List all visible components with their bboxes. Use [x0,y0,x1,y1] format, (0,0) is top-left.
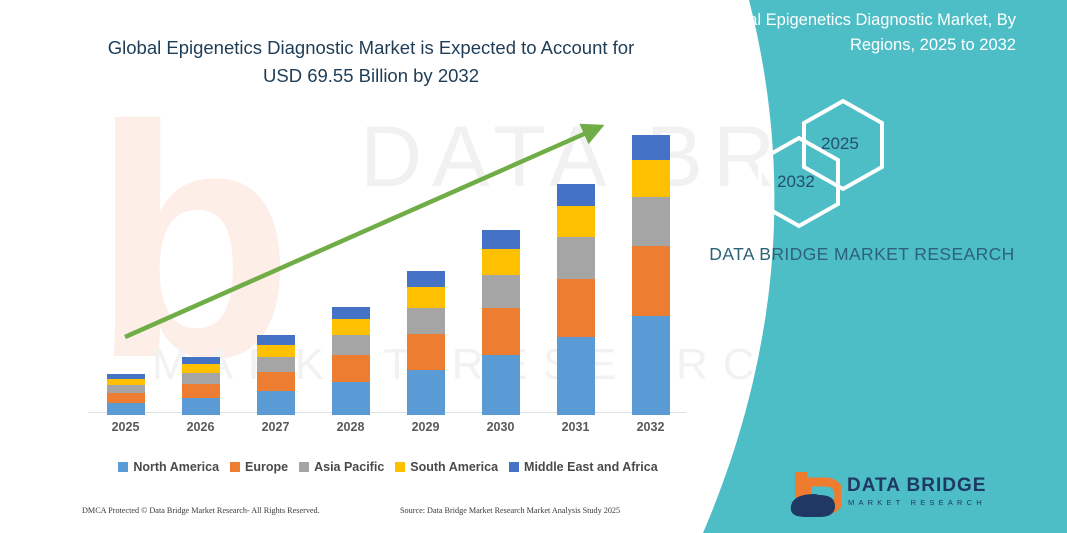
x-axis-label-2030: 2030 [471,420,531,434]
right-panel: Global Epigenetics Diagnostic Market, By… [667,0,1067,533]
logo-sub-text: MARKET RESEARCH [848,498,986,507]
x-axis-label-2031: 2031 [546,420,606,434]
company-name: DATA BRIDGE MARKET RESEARCH [707,240,1017,268]
bar-segment [332,307,370,319]
bar-2027 [257,335,295,415]
bar-segment [482,230,520,249]
legend-item[interactable]: North America [118,460,219,474]
x-axis-label-2025: 2025 [96,420,156,434]
bar-segment [182,364,220,373]
bar-segment [332,319,370,335]
legend-swatch-icon [395,462,405,472]
bar-segment [257,391,295,415]
bar-segment [257,357,295,372]
bar-segment [107,379,145,386]
bar-2028 [332,307,370,415]
bar-2026 [182,357,220,415]
bar-segment [482,275,520,308]
page-title-line-1: Global Epigenetics Diagnostic Market is … [108,37,635,58]
bar-segment [632,316,670,415]
bar-segment [407,334,445,370]
bar-2030 [482,230,520,415]
logo-main-text: DATA BRIDGE [847,475,986,497]
bar-segment [482,308,520,355]
legend-label: Asia Pacific [314,460,384,474]
page-title: Global Epigenetics Diagnostic Market is … [60,34,682,90]
bar-segment [332,355,370,382]
x-axis-label-2028: 2028 [321,420,381,434]
bar-segment [107,385,145,393]
bar-segment [257,372,295,392]
bar-segment [632,160,670,196]
bar-segment [107,403,145,415]
legend-swatch-icon [118,462,128,472]
bar-segment [257,345,295,357]
growth-arrow-icon [88,110,688,415]
bar-segment [557,337,595,415]
bar-segment [182,384,220,398]
legend-label: North America [133,460,219,474]
bar-segment [182,373,220,384]
company-name-text: DATA BRIDGE MARKET RESEARCH [709,244,1014,264]
legend-swatch-icon [230,462,240,472]
bar-segment [632,246,670,316]
bar-2029 [407,271,445,415]
bar-segment [107,393,145,403]
legend-label: Middle East and Africa [524,460,658,474]
legend-label: Europe [245,460,288,474]
bar-segment [407,308,445,334]
infographic-root: b DATA BRIDGE MARKET RESEARCH Global Epi… [0,0,1067,533]
bar-2025 [107,374,145,416]
x-axis-label-2027: 2027 [246,420,306,434]
bar-segment [632,197,670,246]
legend-swatch-icon [299,462,309,472]
bar-segment [557,237,595,278]
bar-2031 [557,184,595,415]
legend-item[interactable]: South America [395,460,498,474]
bar-segment [407,287,445,308]
bar-segment [407,370,445,415]
hexagon-label-end-year: 2032 [777,172,815,192]
footer-source: Source: Data Bridge Market Research Mark… [400,506,620,515]
bar-segment [557,279,595,337]
page-title-line-2: USD 69.55 Billion by 2032 [263,65,479,86]
chart-x-labels: 20252026202720282029203020312032 [88,420,688,446]
bar-segment [557,206,595,238]
bar-segment [632,135,670,160]
bar-segment [257,335,295,344]
data-bridge-logo: DATA BRIDGE MARKET RESEARCH [785,470,1055,525]
legend-swatch-icon [509,462,519,472]
chart-legend: North AmericaEuropeAsia PacificSouth Ame… [88,455,688,479]
bar-segment [482,355,520,415]
logo-b-icon [785,470,841,520]
footer-copyright: DMCA Protected © Data Bridge Market Rese… [82,506,320,515]
legend-label: South America [410,460,498,474]
legend-item[interactable]: Middle East and Africa [509,460,658,474]
bar-segment [557,184,595,206]
legend-item[interactable]: Europe [230,460,288,474]
bar-segment [182,357,220,364]
bar-segment [332,382,370,415]
bar-segment [332,335,370,355]
stacked-bar-chart [88,110,688,415]
x-axis-label-2029: 2029 [396,420,456,434]
bar-2032 [632,135,670,415]
hexagon-label-start-year: 2025 [821,134,859,154]
bar-segment [407,271,445,286]
bar-segment [182,398,220,415]
legend-item[interactable]: Asia Pacific [299,460,384,474]
x-axis-label-2026: 2026 [171,420,231,434]
bar-segment [482,249,520,275]
